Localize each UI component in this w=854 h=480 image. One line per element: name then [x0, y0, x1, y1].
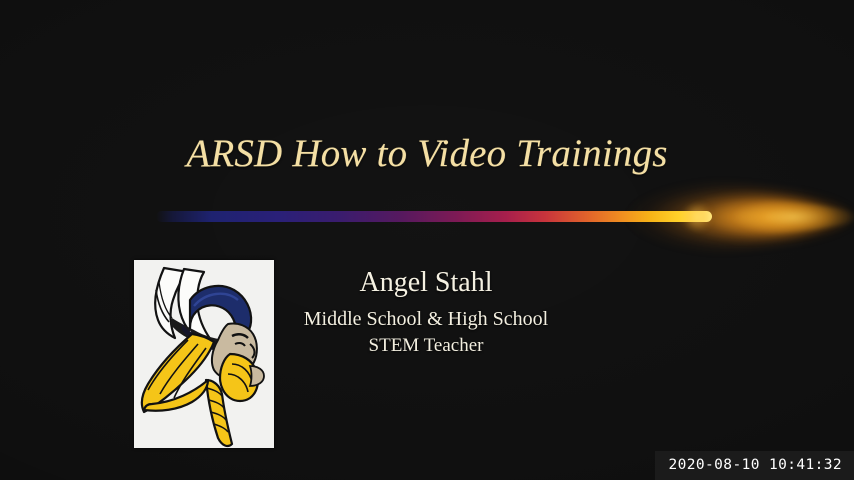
recording-timestamp: 2020-08-10 10:41:32	[655, 451, 854, 480]
vikings-mascot-icon	[134, 260, 274, 448]
presentation-slide: ARSD How to Video Trainings	[0, 0, 854, 480]
page-title: ARSD How to Video Trainings	[0, 131, 854, 177]
presenter-role-line-2: STEM Teacher	[300, 333, 552, 359]
presenter-name: Angel Stahl	[300, 266, 552, 299]
presenter-role-line-1: Middle School & High School	[300, 305, 552, 333]
accent-bar-core	[156, 211, 712, 222]
gradient-accent-bar	[140, 178, 726, 256]
presenter-info: Angel Stahl Middle School & High School …	[300, 266, 552, 359]
accent-bar-tip-glow	[660, 202, 734, 232]
school-logo	[134, 260, 274, 448]
